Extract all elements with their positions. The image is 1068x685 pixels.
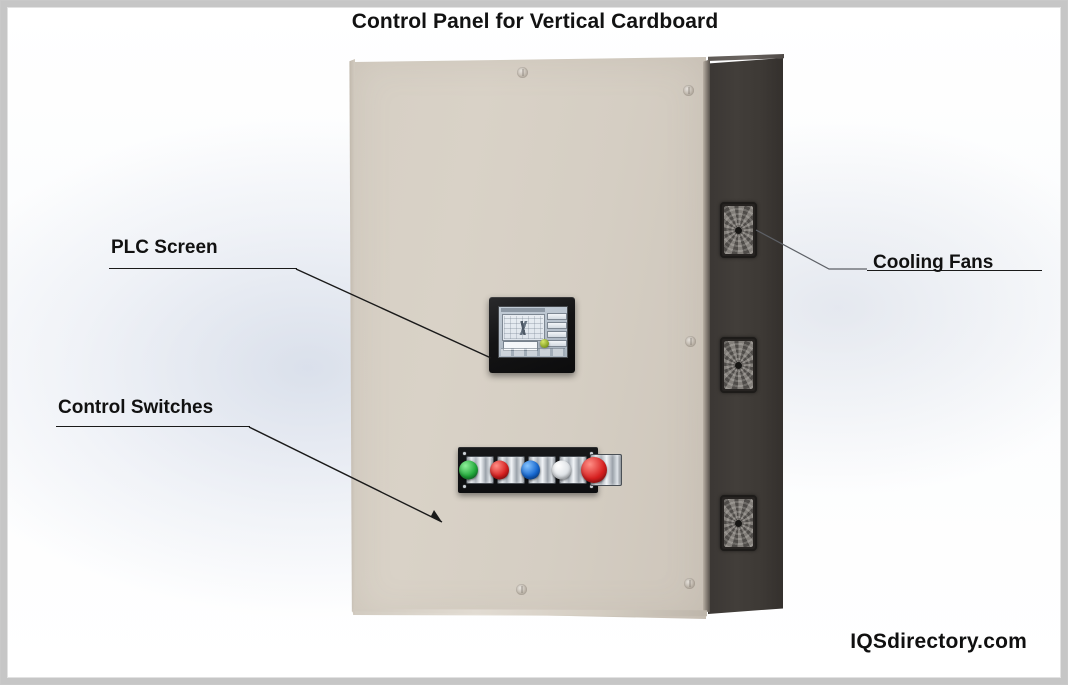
annotation-underline-plc-screen xyxy=(109,268,297,269)
screw-bottom-right-icon xyxy=(684,578,695,589)
plc-bottom-bar xyxy=(501,348,565,356)
plc-trend-chart xyxy=(502,314,545,341)
switch-cap-green[interactable] xyxy=(459,461,478,480)
screw-top-left-icon xyxy=(517,67,528,78)
fan-hub xyxy=(735,227,742,234)
plc-side-button[interactable] xyxy=(547,331,567,338)
switch-cap-blue[interactable] xyxy=(521,461,540,480)
control-cabinet xyxy=(345,49,795,624)
plc-side-button[interactable] xyxy=(547,340,567,347)
switch-cap-estop[interactable] xyxy=(581,457,607,483)
cabinet-side-panel xyxy=(708,58,783,614)
switch-row xyxy=(466,455,590,485)
switch-cap-white[interactable] xyxy=(552,461,571,480)
annotation-label-plc-screen: PLC Screen xyxy=(111,237,218,259)
screw-top-right-icon xyxy=(683,85,694,96)
fan-lower-icon xyxy=(720,495,757,551)
fan-hub xyxy=(735,520,742,527)
screw-middle-right-icon xyxy=(685,336,696,347)
illustration-canvas: Control Panel for Vertical Cardboard xyxy=(0,0,1068,685)
plc-side-button[interactable] xyxy=(547,313,567,320)
cabinet-corner-seam xyxy=(703,56,710,616)
plate-screw-icon xyxy=(463,485,466,488)
emergency-stop-button[interactable] xyxy=(590,456,622,484)
plc-selector-knob-icon[interactable] xyxy=(540,339,549,348)
plc-screen[interactable] xyxy=(489,297,575,373)
plc-side-buttons[interactable] xyxy=(547,313,565,347)
plc-header-bar xyxy=(501,308,545,312)
watermark: IQSdirectory.com xyxy=(850,630,1027,654)
screw-bottom-left-icon xyxy=(516,584,527,595)
cabinet-left-edge xyxy=(348,59,355,615)
fan-upper-icon xyxy=(720,202,757,258)
plc-side-button[interactable] xyxy=(547,322,567,329)
fan-hub xyxy=(735,362,742,369)
switch-cap-red[interactable] xyxy=(490,461,509,480)
plc-display[interactable] xyxy=(498,306,568,358)
control-switch-panel xyxy=(458,447,598,493)
annotation-label-cooling-fans: Cooling Fans xyxy=(873,252,993,274)
page-title: Control Panel for Vertical Cardboard xyxy=(1,10,1068,34)
plc-chart-trace xyxy=(504,321,543,335)
annotation-label-control-switches: Control Switches xyxy=(58,397,213,419)
fan-middle-icon xyxy=(720,337,757,393)
annotation-underline-control-switches xyxy=(56,426,250,427)
